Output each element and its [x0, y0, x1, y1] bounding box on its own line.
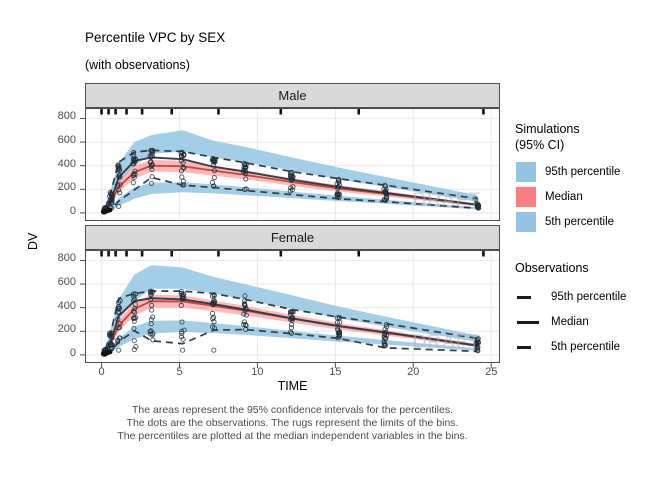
solid-line-segment-icon — [514, 312, 542, 332]
color-swatch-icon — [516, 212, 536, 232]
legend-label-obs-5th: 5th percentile — [551, 341, 620, 353]
legend-label-obs-95th: 95th percentile — [551, 291, 626, 303]
color-swatch-icon — [516, 162, 536, 182]
legend-item-obs-5th[interactable]: 5th percentile — [514, 336, 620, 358]
legend-title-simulations-line1: Simulations — [515, 122, 580, 136]
dashed-line-segment-icon — [514, 287, 542, 307]
caption-line-3: The percentiles are plotted at the media… — [85, 430, 500, 443]
dashed-line-segment-icon — [514, 337, 542, 357]
x-axis-title: TIME — [85, 379, 500, 393]
legend-item-obs-95th[interactable]: 95th percentile — [514, 286, 626, 308]
legend-title-simulations-line2: (95% CI) — [515, 138, 564, 152]
figure-caption: The areas represent the 95% confidence i… — [85, 404, 500, 443]
legend-label-sim-95th: 95th percentile — [545, 166, 620, 178]
legend-label-sim-5th: 5th percentile — [545, 216, 614, 228]
legend-item-sim-median[interactable]: Median — [516, 186, 583, 208]
legend-item-obs-median[interactable]: Median — [514, 311, 589, 333]
legend-title-observations: Observations — [515, 261, 589, 275]
legend-label-obs-median: Median — [551, 316, 589, 328]
legend-item-sim-5th[interactable]: 5th percentile — [516, 211, 614, 233]
color-swatch-icon — [516, 187, 536, 207]
legend-label-sim-median: Median — [545, 191, 583, 203]
vpc-chart-figure: Percentile VPC by SEX (with observations… — [0, 0, 672, 480]
caption-line-1: The areas represent the 95% confidence i… — [85, 404, 500, 417]
caption-line-2: The dots are the observations. The rugs … — [85, 417, 500, 430]
legend-item-sim-95th[interactable]: 95th percentile — [516, 161, 620, 183]
